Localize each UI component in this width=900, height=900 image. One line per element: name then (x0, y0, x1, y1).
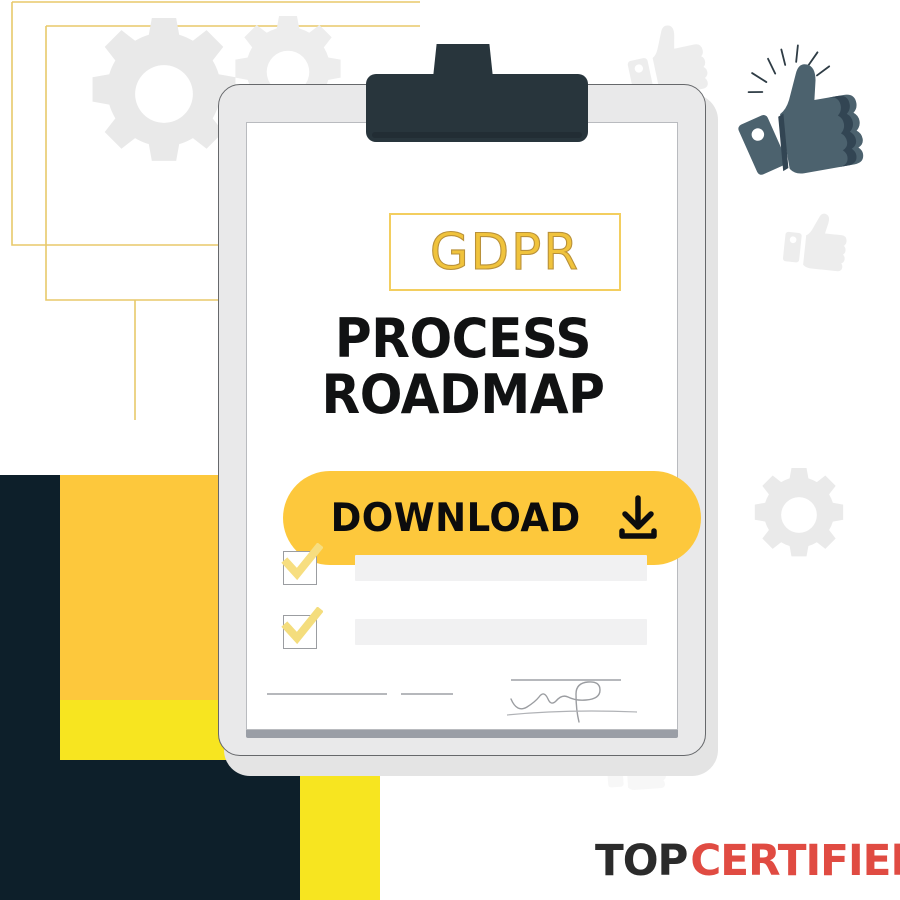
ruled-line-1 (267, 693, 387, 695)
gear-icon-3 (752, 468, 846, 562)
logo-word-certifier: CERTIFIER (691, 840, 900, 883)
promo-canvas: GDPR PROCESS ROADMAP DOWNLOAD (0, 0, 900, 900)
logo-word-top: TOP (595, 840, 688, 883)
clipboard-clip (366, 74, 588, 142)
signature-block (267, 671, 667, 725)
stripe-navy-bottom-wedge (0, 760, 300, 900)
headline-line-2: ROADMAP (262, 367, 664, 423)
gdpr-badge-label: GDPR (430, 227, 580, 277)
thumbs-up-icon-light-2 (778, 200, 859, 281)
download-button-label: DOWNLOAD (331, 496, 581, 541)
ruled-line-2 (401, 693, 453, 695)
checkbox-1[interactable] (283, 551, 317, 585)
list-item-placeholder-bar (355, 619, 647, 645)
page-title: PROCESS ROADMAP (247, 311, 679, 422)
checkbox-2[interactable] (283, 615, 317, 649)
list-item[interactable] (283, 551, 647, 585)
topcertifier-logo[interactable]: TOP CERTIFIER (584, 830, 890, 892)
headline-line-1: PROCESS (262, 311, 664, 367)
clipboard: GDPR PROCESS ROADMAP DOWNLOAD (218, 84, 718, 776)
clipboard-paper: GDPR PROCESS ROADMAP DOWNLOAD (246, 122, 678, 730)
gdpr-badge: GDPR (389, 213, 621, 291)
signature-squiggle (505, 675, 665, 727)
clipboard-clip-neck (433, 44, 493, 78)
list-item-placeholder-bar (355, 555, 647, 581)
check-icon (281, 607, 323, 649)
download-icon (616, 495, 660, 541)
check-icon (281, 543, 323, 585)
list-item[interactable] (283, 615, 647, 649)
thumbs-up-icon-dark (723, 29, 881, 187)
